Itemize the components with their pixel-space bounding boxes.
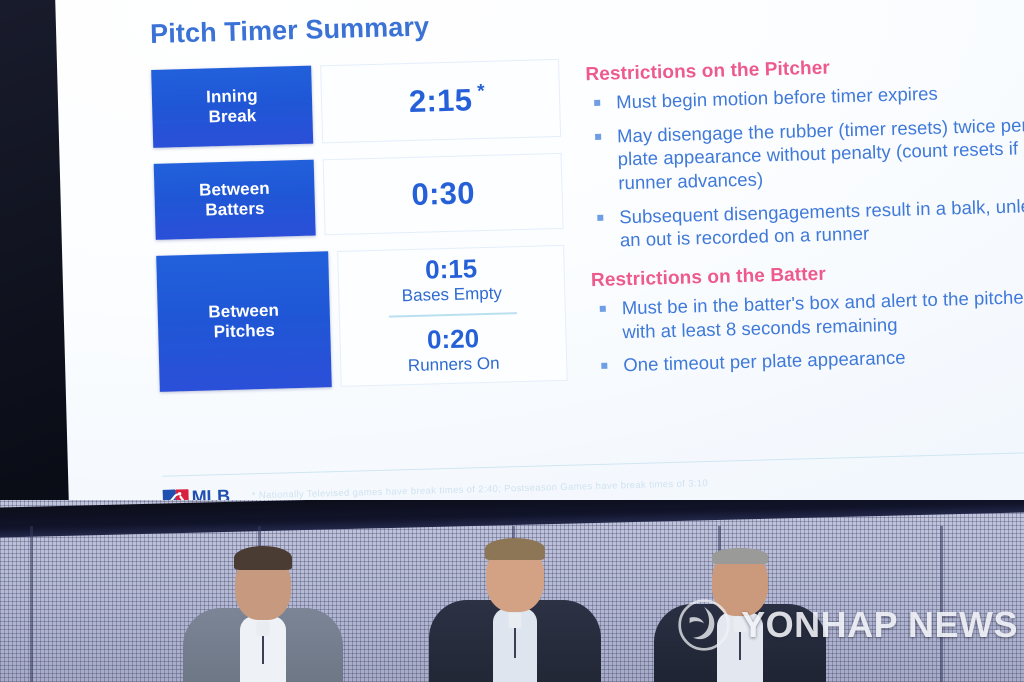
table-row: Inning Break 2:15* (151, 59, 561, 148)
list-item-text: Subsequent disengagements result in a ba… (619, 194, 1024, 250)
timer-value-text: 0:30 (411, 175, 475, 212)
panelist-left (178, 532, 348, 682)
value-divider (388, 312, 516, 317)
timer-caption-runners-on: Runners On (408, 352, 500, 377)
square-bullet-icon (597, 214, 603, 220)
projection-screen: Pitch Timer Summary Inning Break 2:15 (0, 0, 1024, 555)
bullet-list-pitcher: Must begin motion before timer expires M… (586, 79, 1024, 254)
panelist-center (425, 524, 605, 682)
restrictions-column: Restrictions on the Pitcher Must begin m… (585, 46, 1024, 397)
slide-body: Inning Break 2:15* Betwee (117, 46, 1024, 409)
bullet-list-batter: Must be in the batter's box and alert to… (591, 284, 1024, 378)
timer-label-text: Between Batters (199, 179, 271, 220)
footnote-asterisk: * (477, 82, 485, 102)
list-item-text: Must begin motion before timer expires (616, 83, 938, 113)
timer-label-inning-break: Inning Break (151, 66, 313, 148)
watermark-text: YONHAP NEWS (741, 604, 1018, 646)
timer-label-between-batters: Between Batters (154, 160, 316, 240)
timer-value-between-pitches: 0:15 Bases Empty 0:20 Runners On (337, 245, 568, 387)
watermark: YONHAP NEWS (677, 598, 1018, 652)
list-item-text: One timeout per plate appearance (623, 347, 906, 376)
timer-value-bases-empty: 0:15 (425, 255, 478, 285)
screen-bezel: Pitch Timer Summary Inning Break 2:15 (0, 0, 1024, 555)
timer-value-inning-break: 2:15* (320, 59, 561, 143)
timer-label-between-pitches: Between Pitches (156, 251, 332, 392)
table-row: Between Pitches 0:15 Bases Empty 0:20 Ru… (156, 245, 568, 392)
timer-label-text: Between Pitches (208, 301, 280, 342)
presentation-slide: Pitch Timer Summary Inning Break 2:15 (54, 0, 1024, 541)
timer-label-text: Inning Break (206, 86, 259, 127)
list-item-text: Must be in the batter's box and alert to… (621, 286, 1024, 342)
square-bullet-icon (595, 133, 601, 139)
table-row: Between Batters 0:30 (154, 153, 564, 240)
timer-caption-bases-empty: Bases Empty (401, 283, 502, 309)
list-item-text: May disengage the rubber (timer resets) … (617, 114, 1024, 193)
yonhap-logo-icon (677, 598, 731, 652)
page-title: Pitch Timer Summary (150, 0, 1024, 50)
footnote-text: * Nationally Televised games have break … (252, 478, 709, 501)
stage-photo: YONHAP NEWS (0, 500, 1024, 682)
screenshot-root: Pitch Timer Summary Inning Break 2:15 (0, 0, 1024, 682)
list-item: Must be in the batter's box and alert to… (591, 284, 1024, 344)
square-bullet-icon (594, 100, 600, 106)
square-bullet-icon (601, 363, 607, 369)
wall-panel-seam (30, 526, 33, 682)
timer-value-between-batters: 0:30 (323, 153, 564, 235)
timer-table: Inning Break 2:15* Betwee (151, 59, 568, 408)
list-item: One timeout per plate appearance (593, 342, 1024, 378)
list-item: Subsequent disengagements result in a ba… (589, 193, 1024, 253)
list-item: May disengage the rubber (timer resets) … (587, 112, 1024, 196)
timer-value-text: 2:15 (408, 82, 472, 119)
square-bullet-icon (600, 306, 606, 312)
timer-value-runners-on: 0:20 (427, 324, 480, 354)
